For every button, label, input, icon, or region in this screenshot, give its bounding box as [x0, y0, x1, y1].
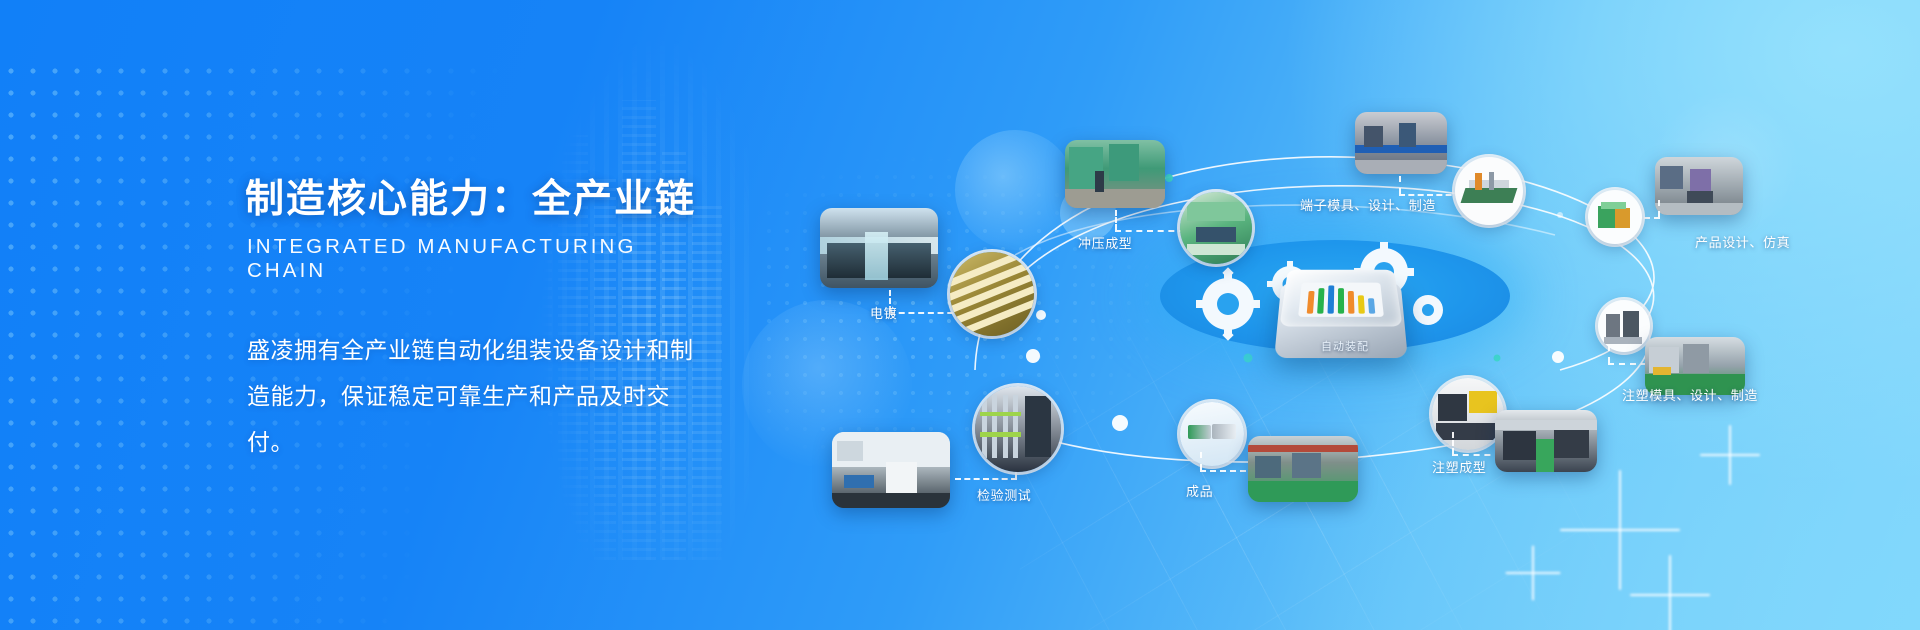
finished-product-connector-v	[1200, 452, 1202, 470]
inspection-test-photo	[832, 432, 950, 508]
finished-product-label: 成品	[1186, 481, 1213, 500]
injection-molding-photo	[1495, 410, 1597, 472]
plating-photo	[820, 208, 938, 288]
finished-product-bubble	[1180, 402, 1244, 466]
injection-mold-label: 注塑模具、设计、制造	[1622, 385, 1758, 404]
copy-block: 制造核心能力：全产业链 INTEGRATED MANUFACTURING CHA…	[245, 178, 715, 465]
product-design-label: 产品设计、仿真	[1695, 232, 1790, 251]
stamping-label: 冲压成型	[1078, 233, 1132, 252]
inspection-test-label: 检验测试	[977, 485, 1031, 504]
injection-mold-connector-v	[1608, 345, 1610, 363]
stamping-photo	[1065, 140, 1165, 208]
terminal-mold-connector-v	[1399, 176, 1401, 194]
inspection-test-connector-h	[955, 478, 1017, 480]
center-label: 自动装配	[1270, 338, 1420, 354]
injection-molding-bubble	[1432, 378, 1504, 450]
automatic-assembly-device: 自动装配	[1270, 250, 1420, 368]
page-title: 制造核心能力：全产业链	[245, 178, 715, 223]
finished-product-photo	[1248, 436, 1358, 502]
product-design-bubble	[1588, 190, 1642, 244]
stamping-connector-h	[1115, 230, 1185, 232]
product-design-connector-v	[1658, 200, 1660, 217]
terminal-mold-label: 端子模具、设计、制造	[1300, 195, 1436, 214]
body-paragraph: 盛凌拥有全产业链自动化组装设备设计和制造能力，保证稳定可靠生产和产品及时交付。	[247, 327, 715, 465]
inspection-test-bubble	[975, 386, 1061, 472]
plating-bubble	[950, 252, 1034, 336]
stamping-bubble	[1180, 192, 1252, 264]
manufacturing-banner: 制造核心能力：全产业链 INTEGRATED MANUFACTURING CHA…	[0, 0, 1920, 630]
terminal-mold-photo	[1355, 112, 1447, 174]
plating-label: 电镀	[870, 303, 897, 322]
injection-molding-label: 注塑成型	[1432, 457, 1486, 476]
injection-mold-bubble	[1598, 300, 1650, 352]
injection-molding-connector-v	[1452, 432, 1454, 454]
stamping-connector-v	[1115, 210, 1117, 230]
terminal-mold-bubble	[1455, 157, 1523, 225]
page-subtitle: INTEGRATED MANUFACTURING CHAIN	[247, 235, 715, 283]
product-design-photo	[1655, 157, 1743, 215]
